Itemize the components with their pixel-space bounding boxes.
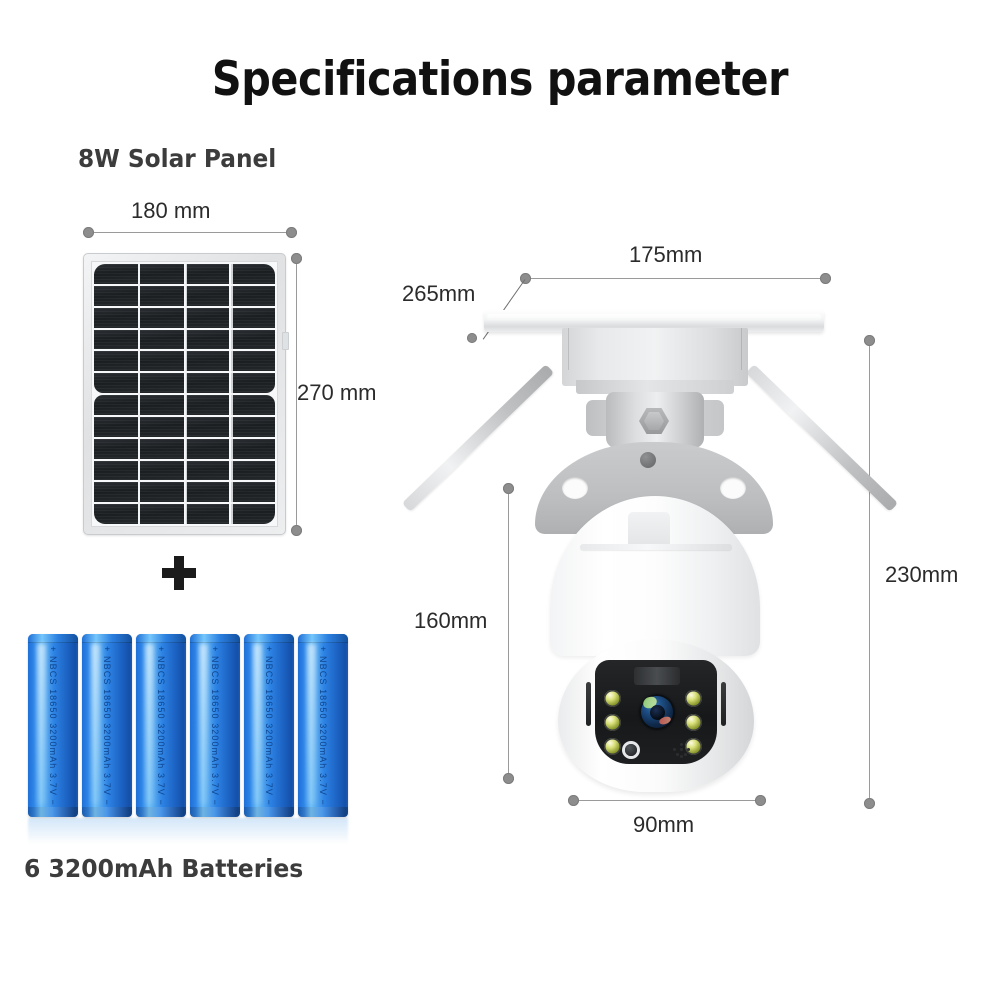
battery-positive-cap [298, 634, 348, 643]
solar-cell [94, 461, 138, 481]
solar-cell [94, 395, 138, 415]
solar-cell [140, 373, 184, 393]
solar-cell [186, 439, 230, 459]
battery-cell: + NBCS 18650 3200mAh 3.7V − [82, 634, 132, 817]
battery-positive-cap [28, 634, 78, 643]
solar-cell [186, 417, 230, 437]
battery-cell: + NBCS 18650 3200mAh 3.7V − [136, 634, 186, 817]
bracket-screw-icon [640, 452, 656, 468]
security-camera-image [390, 250, 910, 830]
battery-print-text: + NBCS 18650 3200mAh 3.7V − [48, 646, 58, 806]
plus-icon [162, 556, 196, 590]
solar-cell [94, 482, 138, 502]
ir-sensor-band [634, 667, 680, 685]
battery-print-text: + NBCS 18650 3200mAh 3.7V − [156, 646, 166, 806]
solar-cell [186, 461, 230, 481]
battery-cell: + NBCS 18650 3200mAh 3.7V − [298, 634, 348, 817]
solar-cell [94, 330, 138, 350]
light-sensor-icon [625, 744, 637, 756]
solar-cell [94, 373, 138, 393]
solar-cell [94, 439, 138, 459]
led-lamp-left-1 [604, 690, 621, 707]
mic-hole [680, 743, 683, 746]
battery-highlight [37, 644, 46, 804]
mic-hole [687, 748, 690, 751]
battery-group: + NBCS 18650 3200mAh 3.7V −+ NBCS 18650 … [28, 634, 348, 824]
solar-panel-width-dot-right [286, 227, 297, 238]
battery-positive-cap [136, 634, 186, 643]
solar-cell [94, 504, 138, 524]
antenna-left [402, 364, 554, 512]
solar-cell [94, 417, 138, 437]
solar-cell [186, 373, 230, 393]
mic-hole [680, 755, 683, 758]
battery-highlight [253, 644, 262, 804]
busbar-3 [231, 264, 233, 524]
solar-cell [231, 461, 275, 481]
solar-panel-width-dot-left [83, 227, 94, 238]
solar-cell [231, 351, 275, 371]
solar-cell [140, 439, 184, 459]
solar-cell [186, 351, 230, 371]
battery-positive-cap [244, 634, 294, 643]
solar-panel-height-line [296, 258, 297, 530]
solar-cell [140, 395, 184, 415]
specifications-page: Specifications parameter 8W Solar Panel … [0, 0, 1000, 1000]
solar-cell [186, 264, 230, 284]
solar-cell [231, 395, 275, 415]
led-lamp-left-2 [604, 714, 621, 731]
solar-cell [186, 286, 230, 306]
solar-cell [231, 308, 275, 328]
bracket-hole-right [720, 477, 746, 499]
antenna-right [746, 364, 898, 512]
solar-panel-glass [91, 261, 278, 527]
busbar-2 [185, 264, 187, 524]
mic-hole [673, 748, 676, 751]
microphone-grille-icon [673, 743, 691, 759]
solar-cell [186, 395, 230, 415]
camera-lens [639, 694, 675, 730]
solar-cell [231, 330, 275, 350]
battery-reflection [28, 818, 348, 844]
solar-cell [186, 482, 230, 502]
battery-label: 6 3200mAh Batteries [24, 854, 303, 883]
solar-cell [94, 308, 138, 328]
solar-panel-image [83, 253, 286, 535]
camera-dome-tab [628, 512, 670, 546]
camera-side-slot-left [586, 682, 591, 726]
battery-negative-end [82, 807, 132, 817]
battery-negative-end [244, 807, 294, 817]
solar-cell [231, 504, 275, 524]
solar-cell [140, 308, 184, 328]
solar-cell [140, 286, 184, 306]
mic-hole [684, 753, 687, 756]
battery-print-text: + NBCS 18650 3200mAh 3.7V − [318, 646, 328, 806]
battery-negative-end [190, 807, 240, 817]
page-title: Specifications parameter [60, 52, 940, 107]
battery-positive-cap [82, 634, 132, 643]
battery-print-text: + NBCS 18650 3200mAh 3.7V − [102, 646, 112, 806]
solar-cell [231, 482, 275, 502]
solar-cell [140, 461, 184, 481]
battery-highlight [307, 644, 316, 804]
solar-cell [186, 308, 230, 328]
led-lamp-left-3 [604, 738, 621, 755]
led-lamp-right-1 [685, 690, 702, 707]
solar-cell [231, 264, 275, 284]
lens-core [650, 705, 665, 720]
solar-cell [140, 482, 184, 502]
solar-cell [231, 286, 275, 306]
battery-highlight [145, 644, 154, 804]
battery-print-text: + NBCS 18650 3200mAh 3.7V − [264, 646, 274, 806]
solar-cell [231, 373, 275, 393]
bracket-hole-left [562, 477, 588, 499]
solar-panel-height-dot-top [291, 253, 302, 264]
battery-highlight [91, 644, 100, 804]
battery-cell: + NBCS 18650 3200mAh 3.7V − [244, 634, 294, 817]
solar-panel-width-label: 180 mm [131, 198, 210, 224]
battery-cell: + NBCS 18650 3200mAh 3.7V − [190, 634, 240, 817]
solar-cell [140, 330, 184, 350]
battery-cell: + NBCS 18650 3200mAh 3.7V − [28, 634, 78, 817]
led-lamp-right-2 [685, 714, 702, 731]
solar-panel-label: 8W Solar Panel [78, 144, 276, 173]
battery-negative-end [136, 807, 186, 817]
camera-dome-seam [580, 544, 732, 550]
solar-panel-width-line [88, 232, 291, 233]
solar-cell [140, 264, 184, 284]
solar-cell [186, 330, 230, 350]
solar-panel-height-dot-bottom [291, 525, 302, 536]
solar-cell [140, 504, 184, 524]
battery-negative-end [28, 807, 78, 817]
solar-cell [186, 504, 230, 524]
solar-panel-height-label: 270 mm [297, 380, 376, 406]
solar-cell [231, 439, 275, 459]
solar-cell [140, 417, 184, 437]
camera-housing-box [562, 328, 748, 386]
camera-side-slot-right [721, 682, 726, 726]
battery-highlight [199, 644, 208, 804]
battery-print-text: + NBCS 18650 3200mAh 3.7V − [210, 646, 220, 806]
solar-cell [94, 264, 138, 284]
busbar-1 [138, 264, 140, 524]
solar-cell [94, 351, 138, 371]
mic-hole [680, 748, 683, 751]
mic-hole [676, 753, 679, 756]
battery-positive-cap [190, 634, 240, 643]
solar-cell [140, 351, 184, 371]
solar-cell [94, 286, 138, 306]
battery-negative-end [298, 807, 348, 817]
solar-panel-side-tab [282, 332, 289, 350]
solar-cell [231, 417, 275, 437]
